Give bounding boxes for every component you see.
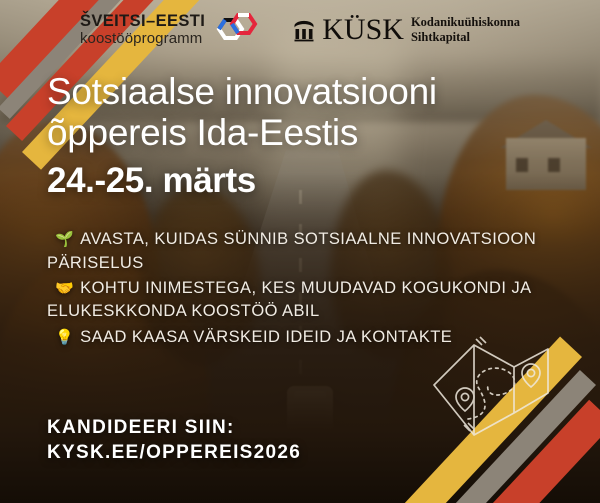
kusk-wordmark: KÜSK — [322, 15, 404, 45]
list-item-text: SAAD KAASA VÄRSKEID IDEID JA KONTAKTE — [80, 328, 452, 346]
interlocking-hexagons-icon — [215, 10, 259, 50]
columns-building-icon — [293, 17, 315, 43]
logo-swiss-subtitle: koostööprogramm — [80, 31, 205, 47]
logo-swiss-estonian-programme: ŠVEITSI–EESTI koostööprogramm — [80, 10, 259, 50]
cta-label: KANDIDEERI SIIN: — [47, 417, 235, 438]
headline-line2: õppereis Ida-Eestis — [47, 113, 560, 154]
poster: ŠVEITSI–EESTI koostööprogramm — [0, 0, 600, 503]
call-to-action[interactable]: KANDIDEERI SIIN: KYSK.EE/OPPEREIS2026 — [47, 415, 301, 465]
logo-kusk: KÜSK Kodanikuühiskonna Sihtkapital — [293, 15, 520, 46]
list-item-text: KOHTU INIMESTEGA, KES MUUDAVAD KOGUKONDI… — [47, 279, 531, 320]
seedling-icon: 🌱 — [55, 229, 74, 250]
headline-line1: Sotsiaalse innovatsiooni — [47, 71, 437, 112]
poster-content: Sotsiaalse innovatsiooni õppereis Ida-Ee… — [47, 72, 560, 351]
logo-swiss-text-block: ŠVEITSI–EESTI koostööprogramm — [80, 13, 205, 46]
kusk-tagline-line2: Sihtkapital — [411, 30, 470, 44]
kusk-tagline-line1: Kodanikuühiskonna — [411, 15, 520, 29]
folded-map-with-pins-graphic — [428, 323, 578, 441]
page-title: Sotsiaalse innovatsiooni õppereis Ida-Ee… — [47, 72, 560, 153]
event-date: 24.-25. märts — [47, 163, 560, 200]
kusk-tagline: Kodanikuühiskonna Sihtkapital — [411, 15, 520, 46]
logo-swiss-title: ŠVEITSI–EESTI — [80, 13, 205, 30]
cta-url[interactable]: KYSK.EE/OPPEREIS2026 — [47, 440, 301, 465]
lightbulb-icon: 💡 — [55, 327, 74, 348]
list-item: 🌱AVASTA, KUIDAS SÜNNIB SOTSIAALNE INNOVA… — [47, 228, 560, 275]
handshake-icon: 🤝 — [55, 278, 74, 299]
list-item-text: AVASTA, KUIDAS SÜNNIB SOTSIAALNE INNOVAT… — [47, 230, 536, 271]
list-item: 🤝KOHTU INIMESTEGA, KES MUUDAVAD KOGUKOND… — [47, 277, 560, 324]
logo-bar: ŠVEITSI–EESTI koostööprogramm — [0, 10, 600, 50]
